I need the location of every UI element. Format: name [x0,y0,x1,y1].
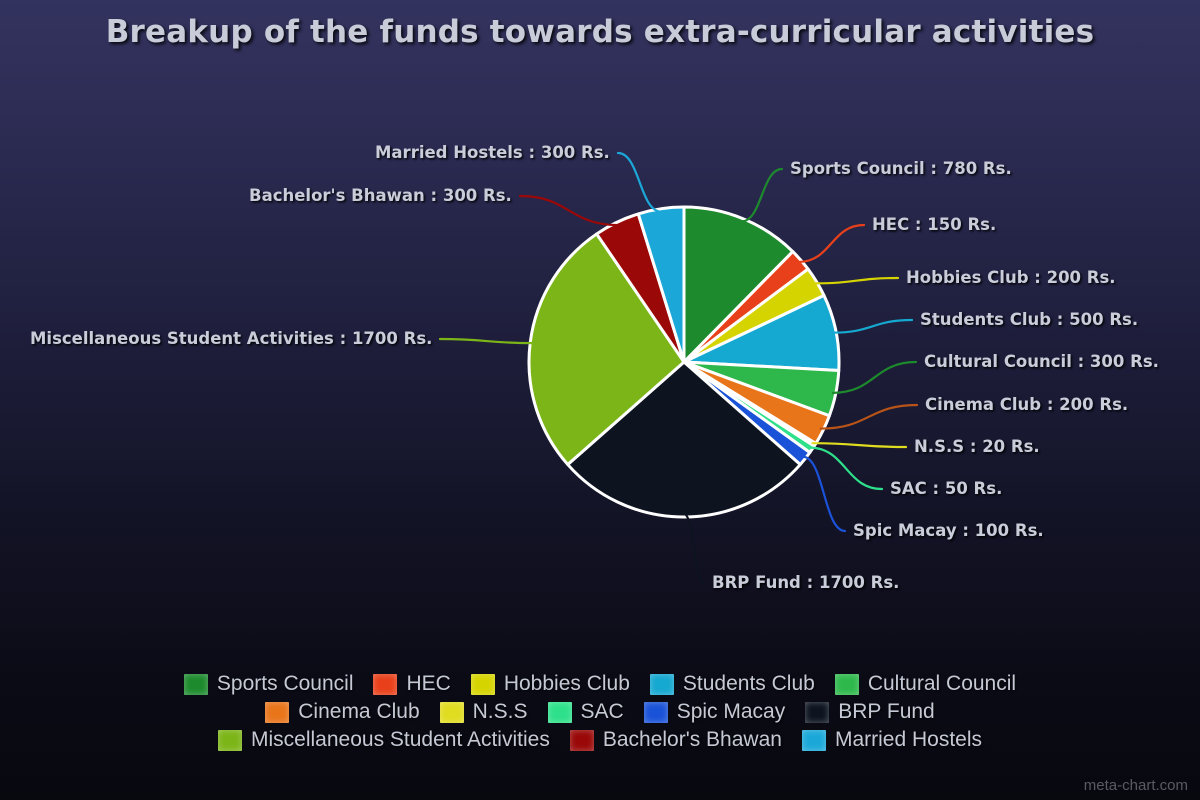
chart-legend: Sports CouncilHECHobbies ClubStudents Cl… [0,672,1200,752]
legend-item[interactable]: Cultural Council [835,672,1016,696]
legend-item[interactable]: Spic Macay [644,700,786,724]
legend-label: HEC [406,672,450,696]
legend-label: Cinema Club [298,700,419,724]
leader-line [813,443,906,447]
legend-label: Sports Council [217,672,354,696]
legend-label: Married Hostels [835,728,982,752]
legend-item[interactable]: Hobbies Club [471,672,630,696]
legend-swatch [373,674,397,695]
pie-callout-label: Sports Council : 780 Rs. [790,159,1012,178]
legend-swatch [218,730,242,751]
legend-swatch [570,730,594,751]
pie-callout-label: Hobbies Club : 200 Rs. [906,268,1116,287]
leader-line [821,405,917,429]
legend-swatch [650,674,674,695]
legend-label: Bachelor's Bhawan [603,728,782,752]
pie-callout-label: HEC : 150 Rs. [872,215,996,234]
legend-item[interactable]: HEC [373,672,450,696]
pie-callout-label: Miscellaneous Student Activities : 1700 … [30,329,432,348]
pie-callout-label: BRP Fund : 1700 Rs. [712,573,899,592]
legend-item[interactable]: Bachelor's Bhawan [570,728,782,752]
legend-swatch [644,702,668,723]
legend-swatch [471,674,495,695]
legend-row-2: Cinema ClubN.S.SSACSpic MacayBRP Fund [255,700,944,724]
legend-item[interactable]: SAC [548,700,624,724]
pie-callout-label: Married Hostels : 300 Rs. [375,143,610,162]
legend-label: N.S.S [473,700,528,724]
legend-label: Miscellaneous Student Activities [251,728,550,752]
legend-swatch [835,674,859,695]
leader-line [440,339,533,343]
leader-line [520,196,618,225]
legend-label: Cultural Council [868,672,1016,696]
legend-label: BRP Fund [838,700,935,724]
legend-item[interactable]: Students Club [650,672,815,696]
pie-slice-group [529,207,839,517]
legend-item[interactable]: Married Hostels [802,728,982,752]
legend-swatch [440,702,464,723]
pie-callout-label: N.S.S : 20 Rs. [914,437,1040,456]
leader-line [833,362,916,393]
chart-canvas: Breakup of the funds towards extra-curri… [0,0,1200,800]
legend-label: SAC [581,700,624,724]
leader-line [742,169,782,221]
legend-row-1: Sports CouncilHECHobbies ClubStudents Cl… [174,672,1026,696]
legend-item[interactable]: Miscellaneous Student Activities [218,728,550,752]
leader-line [814,278,898,283]
legend-label: Students Club [683,672,815,696]
legend-item[interactable]: Cinema Club [265,700,419,724]
leader-line [798,225,864,262]
pie-callout-label: Cinema Club : 200 Rs. [925,395,1128,414]
legend-swatch [548,702,572,723]
pie-callout-label: Bachelor's Bhawan : 300 Rs. [249,186,512,205]
pie-callout-label: Cultural Council : 300 Rs. [924,352,1159,371]
legend-swatch [184,674,208,695]
leader-line [833,320,912,333]
legend-swatch [265,702,289,723]
legend-label: Spic Macay [677,700,786,724]
pie-callout-label: Students Club : 500 Rs. [920,310,1138,329]
legend-row-3: Miscellaneous Student ActivitiesBachelor… [208,728,992,752]
legend-item[interactable]: BRP Fund [805,700,935,724]
watermark: meta-chart.com [1084,777,1188,794]
legend-swatch [802,730,826,751]
legend-swatch [805,702,829,723]
pie-callout-label: Spic Macay : 100 Rs. [853,521,1044,540]
legend-item[interactable]: N.S.S [440,700,528,724]
leader-line [803,457,845,531]
legend-item[interactable]: Sports Council [184,672,354,696]
legend-label: Hobbies Club [504,672,630,696]
leader-line [618,153,661,212]
leader-line [684,514,704,583]
pie-callout-label: SAC : 50 Rs. [890,479,1002,498]
